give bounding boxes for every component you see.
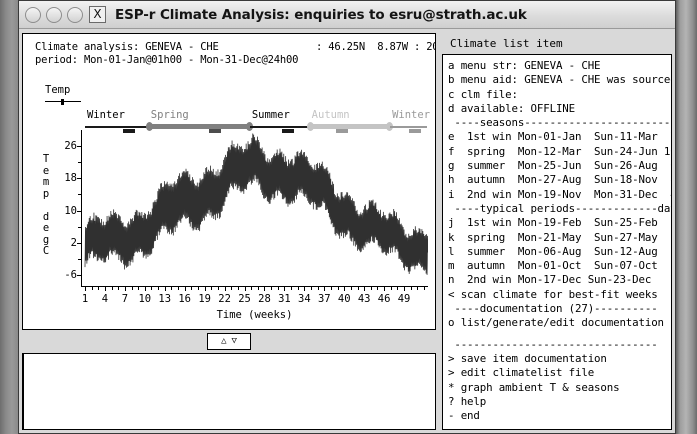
x-axis-tick [304,287,305,291]
y-axis-caption: Temp degC [41,154,51,258]
x-axis-minor-tick [191,287,192,290]
menu-column: Climate list item a menu str: GENEVA - C… [442,33,672,430]
plot-axes-frame [81,130,428,287]
graph-header-location: : 46.25N 8.87W : 20 [316,41,436,53]
x-axis-caption: Time (weeks) [81,309,428,321]
x-axis-tick [125,287,126,291]
y-axis-tick-label: -6 [64,269,77,281]
x-axis-minor-tick [198,287,199,290]
y-axis-tick [77,243,81,244]
x-axis-minor-tick [298,287,299,290]
x-axis-tick-label: 13 [158,293,171,305]
window-minimize-circle-button[interactable] [46,7,62,23]
menu-row[interactable]: ? help [448,395,671,409]
menu-row[interactable]: l summer Mon-06-Aug Sun-12-Aug 7 [448,245,671,259]
x-axis-minor-tick [391,287,392,290]
x-axis-minor-tick [411,287,412,290]
menu-row[interactable]: -------------------------------- [448,338,671,352]
y-caption-char: C [41,246,51,258]
x-axis-minor-tick [178,287,179,290]
menu-row[interactable]: > edit climatelist file [448,366,671,380]
menu-row[interactable]: - end [448,409,671,423]
x-axis-tick-label: 1 [82,293,88,305]
menu-row[interactable]: m autumn Mon-01-Oct Sun-07-Oct 7 [448,259,671,273]
x-axis-minor-tick [158,287,159,290]
x-axis-tick [364,287,365,291]
x-axis-tick-label: 7 [122,293,128,305]
x-axis-tick [245,287,246,291]
x-axis-tick-label: 10 [138,293,151,305]
graph-header-title: Climate analysis: GENEVA - CHE [35,41,219,53]
x-axis-minor-tick [424,287,425,290]
x-axis-minor-tick [251,287,252,290]
window-maximize-circle-button[interactable] [67,7,83,23]
y-axis-minor-tick [78,162,81,163]
season-label: Winter [87,109,125,121]
x-axis-minor-tick [278,287,279,290]
x-axis-minor-tick [238,287,239,290]
menu-row[interactable]: n 2nd win Mon-17-Dec Sun-23-Dec 7 [448,273,671,287]
x-axis-tick-label: 31 [278,293,291,305]
menu-row[interactable]: ----typical periods-------------days [448,202,671,216]
menu-row[interactable]: b menu aid: GENEVA - CHE was sourced f [448,73,671,87]
x-axis-minor-tick [92,287,93,290]
menu-row[interactable]: g summer Mon-25-Jun Sun-26-Aug 63 [448,159,671,173]
menu-row[interactable]: * graph ambient T & seasons [448,381,671,395]
x-axis-minor-tick [338,287,339,290]
menu-row[interactable]: e 1st win Mon-01-Jan Sun-11-Mar 70 [448,130,671,144]
graph-scroll-strip: △ ▽ [22,330,436,353]
y-axis-tick [77,178,81,179]
x-axis-minor-tick [231,287,232,290]
x-axis-tick [264,287,265,291]
x-axis-tick-label: 46 [378,293,391,305]
menu-row[interactable]: d available: OFFLINE [448,102,671,116]
season-label: Autumn [312,109,350,121]
x-axis-minor-tick [218,287,219,290]
x-axis-tick [384,287,385,291]
menu-row[interactable]: c clm file: [448,88,671,102]
window-title: ESP-r Climate Analysis: enquiries to esr… [115,7,527,23]
menu-row[interactable]: j 1st win Mon-19-Feb Sun-25-Feb 7 [448,216,671,230]
x-axis-tick [205,287,206,291]
y-caption-char: e [41,223,51,235]
menu-row[interactable]: > save item documentation [448,352,671,366]
desktop-background: X ESP-r Climate Analysis: enquiries to e… [0,0,697,434]
menu-row[interactable]: h autumn Mon-27-Aug Sun-18-Nov 84 [448,173,671,187]
season-bar [85,126,148,128]
x-axis-tick [165,287,166,291]
x-axis-minor-tick [417,287,418,290]
plot-area[interactable]: Time (weeks) -62101826147101316192225283… [81,130,428,287]
x-axis-minor-tick [171,287,172,290]
x-axis-minor-tick [98,287,99,290]
legend-line-swatch [45,101,81,102]
x-axis-minor-tick [291,287,292,290]
x-axis-tick [404,287,405,291]
x-axis-tick [225,287,226,291]
y-caption-char: m [41,177,51,189]
x-axis-minor-tick [397,287,398,290]
x-axis-minor-tick [138,287,139,290]
y-axis-minor-tick [78,227,81,228]
x-axis-tick [344,287,345,291]
y-axis-tick-label: 2 [71,237,77,249]
x-axis-tick-label: 4 [102,293,108,305]
graph-header-period: period: Mon-01-Jan@01h00 - Mon-31-Dec@24… [35,54,298,66]
x-axis-tick [145,287,146,291]
x-axis-minor-tick [132,287,133,290]
menu-row[interactable]: f spring Mon-12-Mar Sun-24-Jun 105 [448,145,671,159]
window-vertical-scrollbar[interactable] [676,0,697,434]
x-axis-minor-tick [118,287,119,290]
climate-graph-panel[interactable]: Climate analysis: GENEVA - CHE : 46.25N … [22,33,436,330]
x-axis-minor-tick [151,287,152,290]
menu-row[interactable]: i 2nd win Mon-19-Nov Mon-31-Dec 43 [448,188,671,202]
window-title-bar[interactable]: X ESP-r Climate Analysis: enquiries to e… [19,1,675,29]
x-axis-tick-label: 49 [398,293,411,305]
scroll-down-icon[interactable]: ▽ [232,337,237,346]
x-axis-tick-label: 25 [238,293,251,305]
application-window: X ESP-r Climate Analysis: enquiries to e… [18,0,676,434]
menu-panel-title: Climate list item [442,33,672,54]
x-axis-tick [85,287,86,291]
graph-scroll-widget[interactable]: △ ▽ [207,333,251,350]
x-axis-minor-tick [331,287,332,290]
season-band: WinterSpringSummerAutumnWinter [81,111,428,130]
menu-row[interactable]: ----documentation (27)---------- [448,302,671,316]
graph-column: Climate analysis: GENEVA - CHE : 46.25N … [22,33,436,430]
y-axis-tick-label: 18 [64,172,77,184]
season-bar [310,124,390,129]
y-axis-tick [77,275,81,276]
window-body: Climate analysis: GENEVA - CHE : 46.25N … [19,29,675,433]
season-bar [250,126,309,128]
climate-list-item-menu[interactable]: a menu str: GENEVA - CHEb menu aid: GENE… [442,54,672,430]
menu-row[interactable]: ----seasons--------------------------day… [448,116,671,130]
y-axis-tick-label: 26 [64,140,77,152]
scroll-up-icon[interactable]: △ [221,337,226,346]
x-axis-tick-label: 34 [298,293,311,305]
x-axis-minor-tick [377,287,378,290]
menu-row[interactable]: k spring Mon-21-May Sun-27-May 7 [448,231,671,245]
x-axis-minor-tick [318,287,319,290]
season-bar [149,124,249,129]
menu-row[interactable]: < scan climate for best-fit weeks [448,288,671,302]
y-caption-char: T [41,154,51,166]
menu-spacer [448,331,671,338]
menu-row[interactable]: o list/generate/edit documentation [448,316,671,330]
x-axis-tick-label: 28 [258,293,271,305]
x-axis-tick [105,287,106,291]
season-label: Spring [151,109,189,121]
close-icon[interactable]: X [89,6,106,23]
x-axis-tick [284,287,285,291]
x-axis-tick-label: 40 [338,293,351,305]
x-axis-minor-tick [358,287,359,290]
x-axis-tick [185,287,186,291]
y-axis-minor-tick [78,259,81,260]
y-axis-tick-label: 10 [64,205,77,217]
y-axis-tick [77,146,81,147]
x-axis-minor-tick [371,287,372,290]
x-axis-minor-tick [112,287,113,290]
x-axis-minor-tick [258,287,259,290]
y-axis-tick [77,211,81,212]
x-axis-tick-label: 37 [318,293,331,305]
x-axis-minor-tick [351,287,352,290]
legend-label: Temp [45,84,70,96]
x-axis-tick-label: 16 [178,293,191,305]
window-close-circle-button[interactable] [25,7,41,23]
y-caption-char [41,200,51,212]
season-label: Winter [392,109,430,121]
menu-row[interactable]: a menu str: GENEVA - CHE [448,59,671,73]
y-axis-minor-tick [78,194,81,195]
x-axis-minor-tick [211,287,212,290]
x-axis-minor-tick [311,287,312,290]
x-axis-tick [324,287,325,291]
graph-lower-blank-panel [22,353,436,430]
season-bar [390,126,427,128]
x-axis-tick-label: 22 [218,293,231,305]
season-label: Summer [252,109,290,121]
x-axis-tick-label: 19 [198,293,211,305]
x-axis-minor-tick [271,287,272,290]
x-axis-tick-label: 43 [358,293,371,305]
